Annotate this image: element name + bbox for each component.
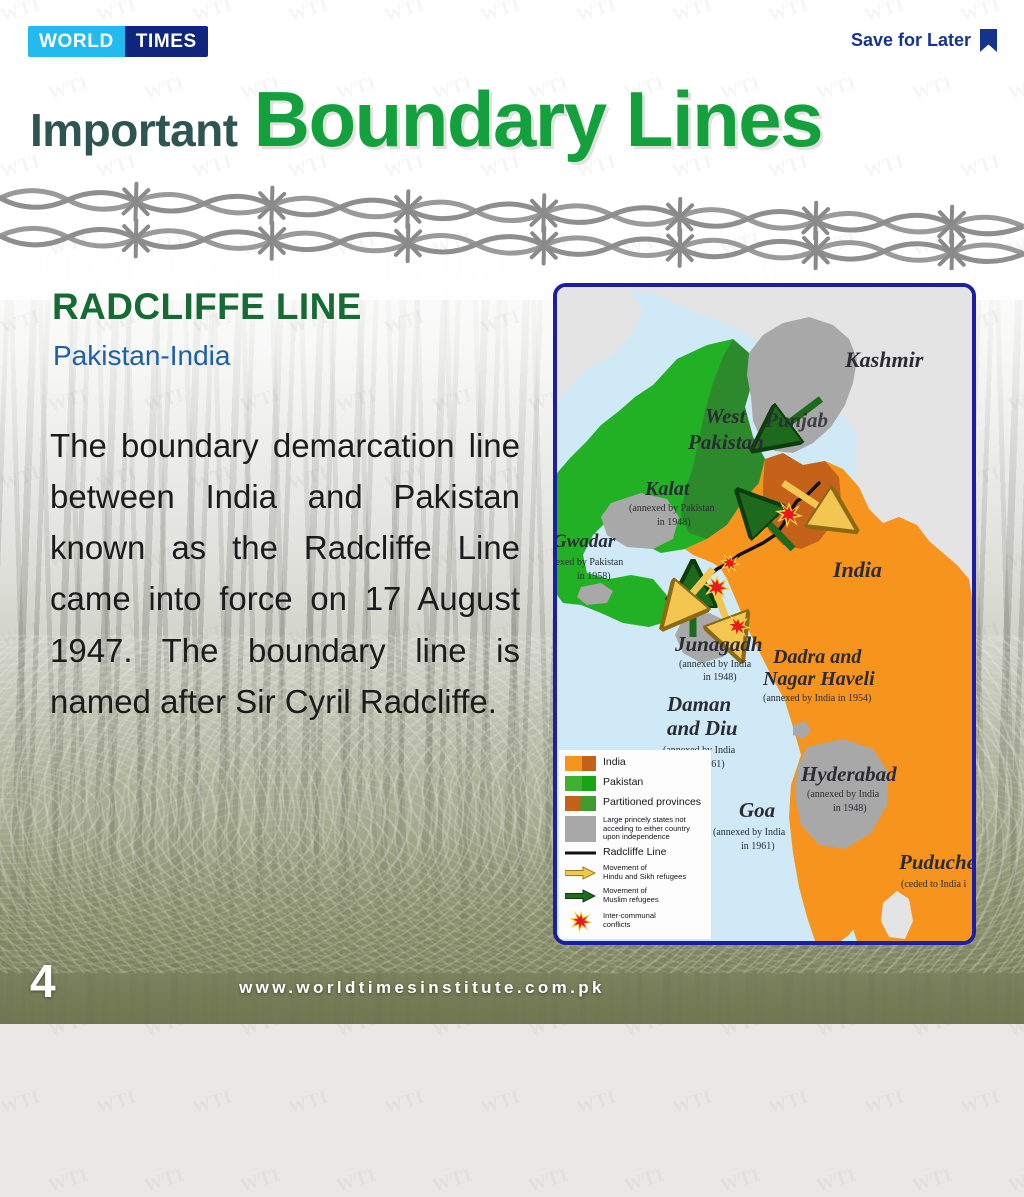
article-body: The boundary demarcation line between In… bbox=[50, 420, 520, 727]
bookmark-icon bbox=[979, 28, 998, 53]
yellow-arrow-icon bbox=[565, 866, 596, 880]
legend-swatch-partitioned bbox=[565, 796, 596, 811]
map-label-junagadh-sub2: in 1948) bbox=[703, 672, 737, 683]
map-label-india: India bbox=[832, 557, 882, 582]
map-label-dadra-sub: (annexed by India in 1954) bbox=[763, 693, 871, 704]
site-url-text: www.worldtimesinstitute.com.pk bbox=[239, 978, 605, 998]
legend-label-hindu-sikh-movement: Movement of Hindu and Sikh refugees bbox=[603, 864, 686, 882]
legend-swatch-india bbox=[565, 756, 596, 771]
watermark-text: WTI bbox=[238, 1165, 283, 1197]
article-subheading: Pakistan-India bbox=[53, 340, 230, 372]
world-times-logo[interactable]: WORLD TIMES bbox=[28, 26, 208, 57]
legend-arrow-green bbox=[565, 889, 596, 903]
map-label-kalat: Kalat bbox=[644, 478, 691, 500]
barbed-wire-divider bbox=[0, 178, 1024, 270]
map-panel[interactable]: .ser { font-family:"Liberation Serif", s… bbox=[553, 283, 976, 945]
watermark-text: WTI bbox=[190, 1087, 235, 1120]
legend-item-partitioned: Partitioned provinces bbox=[565, 796, 706, 811]
map-label-daman-1: Daman bbox=[666, 692, 731, 716]
legend-label-india: India bbox=[603, 757, 626, 769]
watermark-text: WTI bbox=[766, 1087, 811, 1120]
watermark-text: WTI bbox=[718, 1165, 763, 1197]
watermark-text: WTI bbox=[862, 1087, 907, 1120]
watermark-text: WTI bbox=[382, 1087, 427, 1120]
watermark-text: WTI bbox=[94, 1087, 139, 1120]
title-prefix: Important bbox=[30, 103, 238, 157]
map-label-hyderabad-sub2: in 1948) bbox=[833, 803, 867, 814]
watermark-text: WTI bbox=[958, 1087, 1003, 1120]
legend-item-india: India bbox=[565, 756, 706, 771]
map-label-goa-sub2: in 1961) bbox=[741, 841, 775, 852]
watermark-text: WTI bbox=[574, 1087, 619, 1120]
legend-item-radcliffe-line: Radcliffe Line bbox=[565, 847, 706, 859]
watermark-text: WTI bbox=[334, 1165, 379, 1197]
logo-times-segment: TIMES bbox=[125, 26, 208, 57]
legend-item-pakistan: Pakistan bbox=[565, 776, 706, 791]
conflict-burst-icon bbox=[570, 910, 592, 932]
legend-swatch-princely-states bbox=[565, 816, 596, 842]
watermark-text: WTI bbox=[814, 1165, 859, 1197]
legend-label-muslim-movement: Movement of Muslim refugees bbox=[603, 887, 659, 905]
map-label-puducherry-sub: (ceded to India i bbox=[901, 879, 966, 890]
map-label-dadra-1: Dadra and bbox=[772, 646, 862, 668]
legend-swatch-pakistan bbox=[565, 776, 596, 791]
map-label-pakistan: Pakistan bbox=[687, 430, 764, 454]
map-label-hyderabad-sub1: (annexed by India bbox=[807, 789, 880, 800]
map-label-gwadar-sub1: annexed by Pakistan bbox=[557, 557, 623, 568]
map-label-goa: Goa bbox=[739, 798, 775, 822]
map-label-west: West bbox=[705, 404, 747, 428]
legend-label-princely-states: Large princely states not acceding to ei… bbox=[603, 816, 690, 843]
map-label-goa-sub1: (annexed by India bbox=[713, 827, 786, 838]
map-label-gwadar-sub2: in 1958) bbox=[577, 571, 611, 582]
logo-world-segment: WORLD bbox=[28, 26, 125, 57]
map-label-junagadh-sub1: (annexed by India bbox=[679, 659, 752, 670]
watermark-text: WTI bbox=[1006, 1165, 1024, 1197]
map-label-hyderabad: Hyderabad bbox=[800, 762, 897, 786]
map-label-puducherry: Puduche bbox=[898, 850, 972, 874]
map-label-kalat-sub1: (annexed by Pakistan bbox=[629, 503, 715, 514]
map-label-junagadh: Junagadh bbox=[674, 632, 763, 656]
map-label-gwadar: Gwadar bbox=[557, 531, 616, 552]
watermark-text: WTI bbox=[286, 1087, 331, 1120]
radcliffe-line-icon bbox=[565, 848, 596, 858]
legend-label-partitioned: Partitioned provinces bbox=[603, 797, 701, 809]
watermark-text: WTI bbox=[430, 1165, 475, 1197]
watermark-text: WTI bbox=[46, 1165, 91, 1197]
legend-burst-swatch bbox=[565, 910, 596, 932]
watermark-text: WTI bbox=[478, 1087, 523, 1120]
legend-item-hindu-sikh-movement: Movement of Hindu and Sikh refugees bbox=[565, 864, 706, 882]
watermark-text: WTI bbox=[622, 1165, 667, 1197]
watermark-text: WTI bbox=[670, 1087, 715, 1120]
watermark-text: WTI bbox=[910, 1165, 955, 1197]
site-url[interactable]: www.worldtimesinstitute.com.pk bbox=[0, 978, 1024, 998]
legend-item-princely-states: Large princely states not acceding to ei… bbox=[565, 816, 706, 843]
map-label-kashmir: Kashmir bbox=[844, 347, 924, 372]
map-legend: India Pakistan Partitioned provinces Lar… bbox=[559, 750, 711, 939]
legend-label-radcliffe-line: Radcliffe Line bbox=[603, 847, 666, 859]
watermark-text: WTI bbox=[0, 1087, 43, 1120]
legend-arrow-yellow bbox=[565, 866, 596, 880]
save-for-later-label: Save for Later bbox=[851, 30, 971, 51]
watermark-text: WTI bbox=[142, 1165, 187, 1197]
green-arrow-icon bbox=[565, 889, 596, 903]
legend-label-conflicts: Inter-communal conflicts bbox=[603, 912, 656, 930]
legend-label-pakistan: Pakistan bbox=[603, 777, 643, 789]
legend-item-conflicts: Inter-communal conflicts bbox=[565, 910, 706, 932]
article-heading: RADCLIFFE LINE bbox=[52, 286, 362, 328]
map-label-punjab: Punjab bbox=[764, 408, 828, 432]
legend-item-muslim-movement: Movement of Muslim refugees bbox=[565, 887, 706, 905]
map-label-daman-2: and Diu bbox=[667, 716, 738, 740]
legend-line-swatch bbox=[565, 848, 596, 858]
map-label-dadra-2: Nagar Haveli bbox=[762, 668, 875, 690]
page-title: Important Boundary Lines bbox=[30, 82, 1000, 157]
watermark-text: WTI bbox=[526, 1165, 571, 1197]
map-label-kalat-sub2: in 1948) bbox=[657, 517, 691, 528]
title-main: Boundary Lines bbox=[254, 82, 822, 156]
save-for-later-button[interactable]: Save for Later bbox=[851, 28, 998, 53]
